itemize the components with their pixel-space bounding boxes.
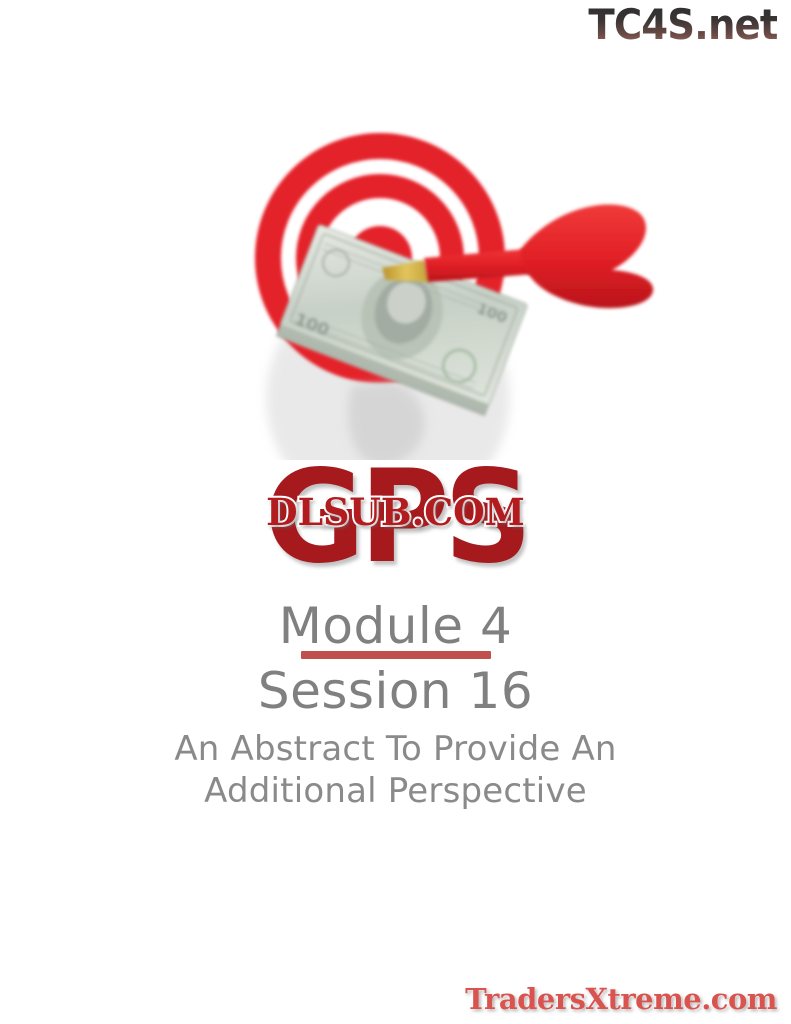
hero-illustration: 100 100 [0,130,791,460]
subtitle-line-2: Additional Perspective [0,770,791,812]
dlsub-watermark: DLSUB.COM [8,492,783,532]
module-title: Module 4 [0,596,791,656]
tc4s-brand-logo: TC4S.net [588,4,777,46]
gps-logo-block: GPS DLSUB.COM [0,452,791,602]
title-block: Module 4 Session 16 An Abstract To Provi… [0,596,791,812]
tradersxtreme-brand-logo: TradersXtreme.com [465,982,777,1016]
subtitle-line-1: An Abstract To Provide An [0,728,791,770]
session-title: Session 16 [0,661,791,721]
slide-page: TC4S.net [0,0,791,1024]
